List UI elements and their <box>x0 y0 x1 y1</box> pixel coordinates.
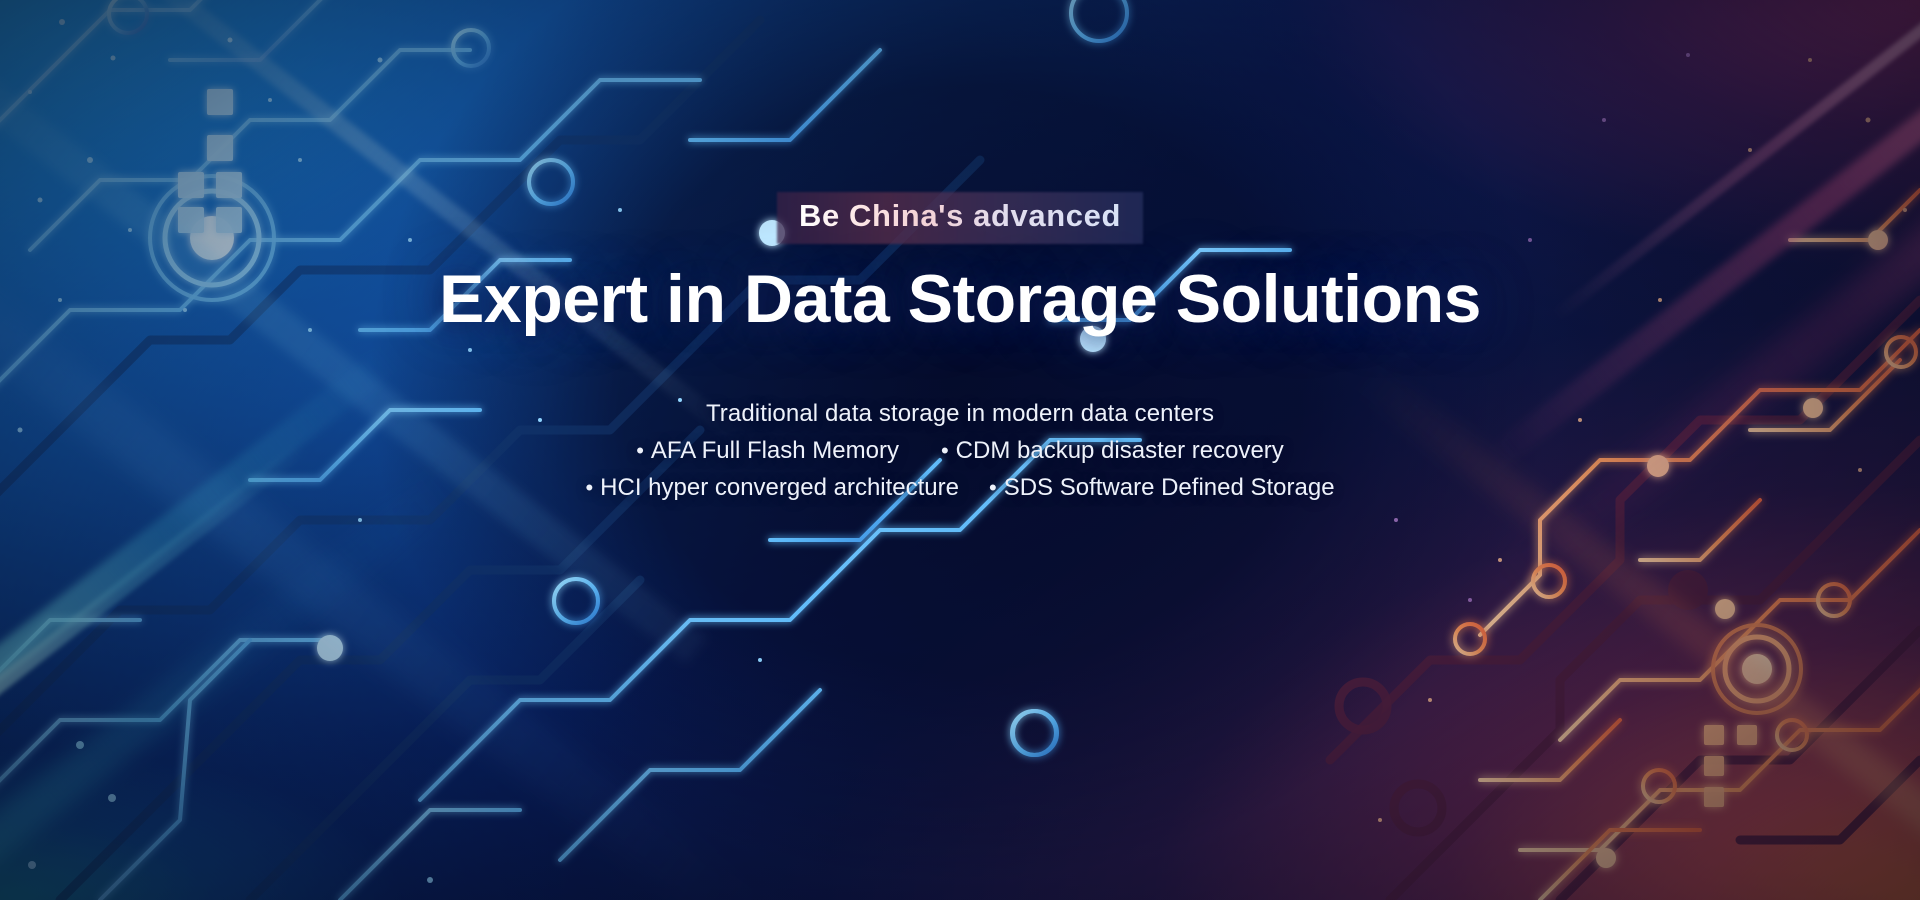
hero-banner: Be China's advanced Expert in Data Stora… <box>0 0 1920 900</box>
background-vignette <box>0 0 1920 900</box>
